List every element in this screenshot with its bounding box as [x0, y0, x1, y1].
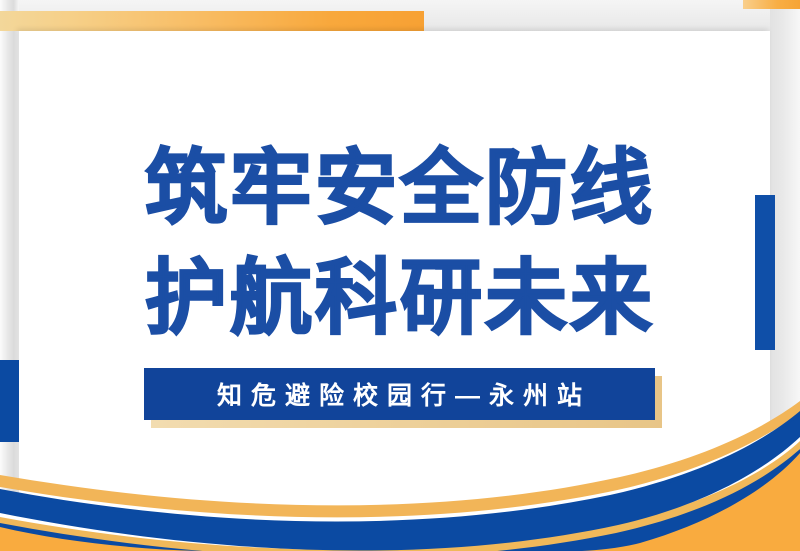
top-right-orange-tab: [743, 0, 800, 9]
subtitle-text: 知危避险校园行—永州站: [208, 376, 591, 412]
right-blue-block: [755, 195, 775, 350]
top-orange-bar: [0, 11, 424, 31]
subtitle-banner: 知危避险校园行—永州站: [144, 368, 655, 420]
poster-canvas: 筑牢安全防线 护航科研未来 知危避险校园行—永州站: [0, 0, 800, 551]
